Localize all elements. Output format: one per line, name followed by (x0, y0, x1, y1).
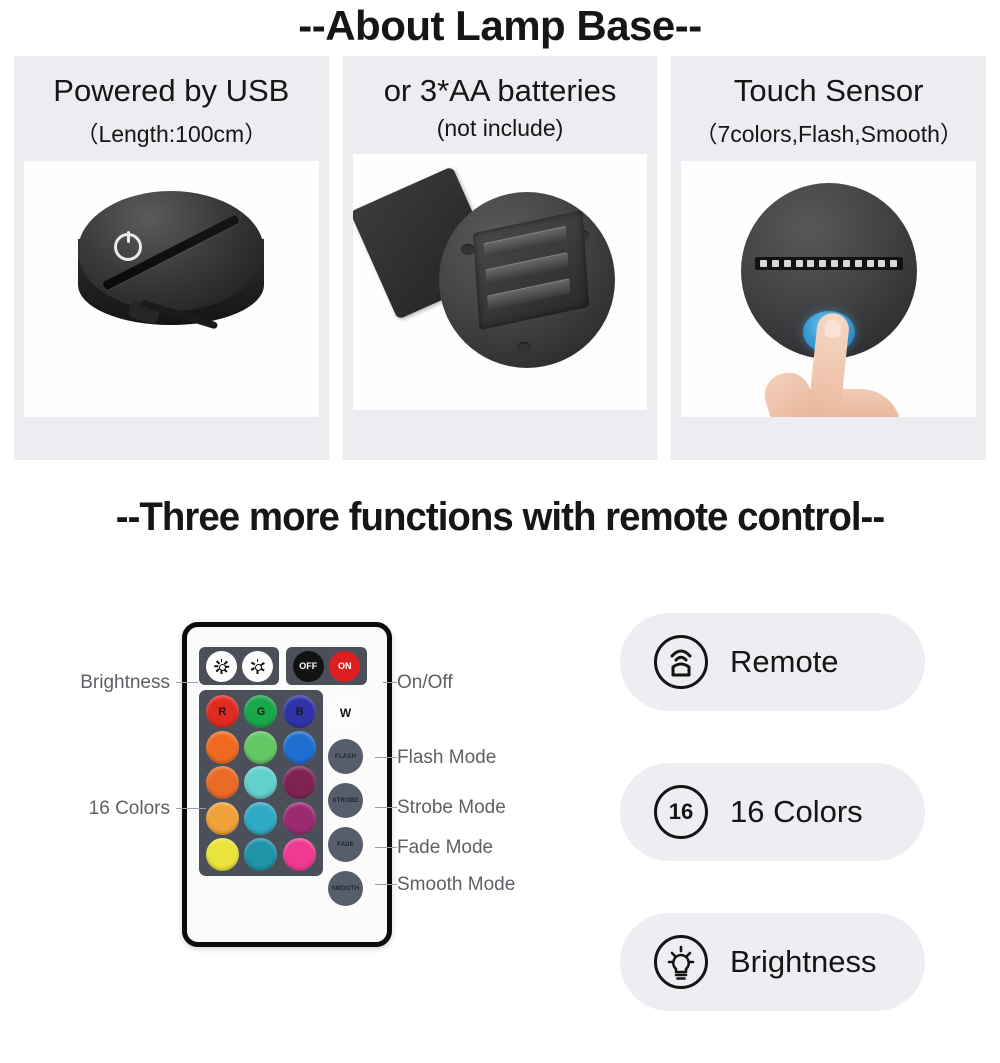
feature-label: Remote (730, 644, 839, 680)
panel-touch-sensor: Touch Sensor （7colors,Flash,Smooth） (671, 56, 986, 460)
leader-line (176, 682, 198, 683)
power-icon (114, 233, 142, 261)
feature-pill-brightness[interactable]: Brightness (620, 913, 925, 1011)
panel-subtitle: （Length:100cm） (14, 115, 329, 149)
callout-flash-mode: Flash Mode (397, 747, 496, 769)
white-button[interactable]: W (328, 695, 363, 730)
touch-sensor-photo (681, 161, 976, 417)
panel-powered-by-usb: Powered by USB （Length:100cm） (14, 56, 329, 460)
lamp-base-panels: Powered by USB （Length:100cm） or 3*AA ba… (14, 56, 986, 460)
panel-subtitle: （7colors,Flash,Smooth） (671, 115, 986, 149)
smooth-mode-button[interactable]: SMOOTH (328, 871, 363, 906)
flash-mode-button[interactable]: FLASH (328, 739, 363, 774)
battery-slot (487, 278, 570, 311)
remote-control[interactable]: OFF ON RGB W FLASH STROBE FADE SMOOTH (182, 622, 392, 947)
leader-line (383, 682, 397, 683)
usb-lamp-base-photo (24, 161, 319, 417)
callout-smooth-mode: Smooth Mode (397, 874, 515, 896)
panel-subtitle: (not include) (343, 115, 658, 142)
color-button-7[interactable] (206, 766, 239, 799)
screw-icon (517, 342, 531, 353)
panel-title: Powered by USB (14, 74, 329, 108)
screw-icon (461, 244, 475, 255)
feature-pill-list: Remote 16 16 Colors Brightness (620, 613, 925, 1063)
fade-mode-button[interactable]: FADE (328, 827, 363, 862)
remote-control-icon (654, 635, 708, 689)
brightness-down-icon[interactable] (242, 651, 273, 682)
battery-compartment-photo (353, 154, 648, 410)
fingernail (824, 319, 842, 339)
color-button-grid: RGB (199, 690, 323, 876)
leader-line (176, 808, 206, 809)
brightness-up-icon[interactable] (206, 651, 237, 682)
color-button-11[interactable] (244, 802, 277, 835)
feature-pill-16-colors[interactable]: 16 16 Colors (620, 763, 925, 861)
off-button[interactable]: OFF (293, 651, 324, 682)
color-button-15[interactable] (283, 838, 316, 871)
panel-aa-batteries: or 3*AA batteries (not include) (343, 56, 658, 460)
sixteen-circle-icon: 16 (654, 785, 708, 839)
color-button-9[interactable] (283, 766, 316, 799)
strobe-mode-button[interactable]: STROBE (328, 783, 363, 818)
remote-top-row: OFF ON (199, 647, 367, 685)
color-button-3[interactable]: B (283, 695, 316, 728)
battery-slot (485, 252, 568, 285)
panel-header: Powered by USB （Length:100cm） (14, 56, 329, 149)
color-button-10[interactable] (206, 802, 239, 835)
feature-label: 16 Colors (730, 794, 863, 830)
callout-on-off: On/Off (397, 672, 453, 694)
brightness-button-group (199, 647, 279, 685)
color-button-5[interactable] (244, 731, 277, 764)
leader-line (375, 757, 397, 758)
callout-fade-mode: Fade Mode (397, 837, 493, 859)
callout-16-colors: 16 Colors (40, 798, 170, 820)
feature-badge: 16 (654, 785, 708, 839)
panel-header: or 3*AA batteries (not include) (343, 56, 658, 142)
on-button[interactable]: ON (329, 651, 360, 682)
panel-title: Touch Sensor (671, 74, 986, 108)
color-button-8[interactable] (244, 766, 277, 799)
light-bulb-icon (654, 935, 708, 989)
color-button-12[interactable] (283, 802, 316, 835)
battery-slot (483, 226, 566, 259)
color-button-6[interactable] (283, 731, 316, 764)
section-title: --Three more functions with remote contr… (20, 495, 980, 540)
panel-title: or 3*AA batteries (343, 74, 658, 108)
color-button-13[interactable] (206, 838, 239, 871)
lamp-base-top (78, 191, 264, 311)
panel-header: Touch Sensor （7colors,Flash,Smooth） (671, 56, 986, 149)
led-strip (755, 257, 903, 270)
page-title: --About Lamp Base-- (0, 2, 1000, 50)
leader-line (375, 884, 397, 885)
color-button-4[interactable] (206, 731, 239, 764)
leader-line (375, 807, 397, 808)
color-button-1[interactable]: R (206, 695, 239, 728)
leader-line (375, 847, 397, 848)
feature-label: Brightness (730, 944, 876, 980)
callout-brightness: Brightness (40, 672, 170, 694)
callout-strobe-mode: Strobe Mode (397, 797, 506, 819)
power-button-group: OFF ON (286, 647, 367, 685)
color-button-2[interactable]: G (244, 695, 277, 728)
feature-pill-remote[interactable]: Remote (620, 613, 925, 711)
color-button-14[interactable] (244, 838, 277, 871)
